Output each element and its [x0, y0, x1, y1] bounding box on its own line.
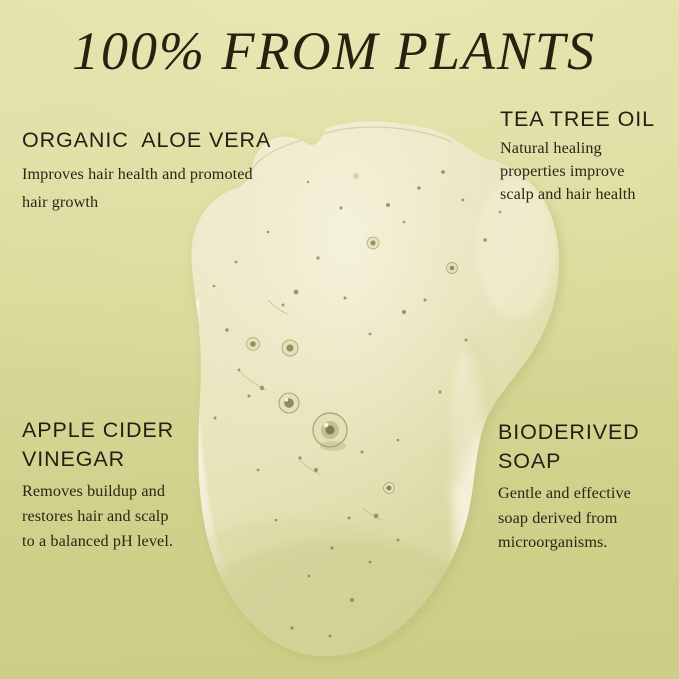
- ingredient-block-apple-cider-vinegar: APPLE CIDER VINEGAR Removes buildup and …: [22, 416, 252, 555]
- ingredient-block-bioderived-soap: BIODERIVED SOAP Gentle and effective soa…: [498, 418, 679, 555]
- poster-canvas: 100% FROM PLANTS ORGANIC ALOE VERA Impro…: [0, 0, 679, 679]
- ingredient-block-tea-tree-oil: TEA TREE OIL Natural healing properties …: [500, 105, 679, 206]
- page-title: 100% FROM PLANTS: [72, 20, 596, 82]
- ingredient-heading-bioderived-soap: BIODERIVED SOAP: [498, 418, 679, 475]
- ingredient-block-organic-aloe-vera: ORGANIC ALOE VERA Improves hair health a…: [22, 126, 322, 217]
- ingredient-body-organic-aloe-vera: Improves hair health and promoted hair g…: [22, 160, 322, 218]
- gel-blob-shadow: [0, 0, 563, 660]
- ingredient-body-bioderived-soap: Gentle and effective soap derived from m…: [498, 481, 679, 555]
- ingredient-heading-tea-tree-oil: TEA TREE OIL: [500, 105, 679, 134]
- gel-blob-graphic: [0, 0, 679, 679]
- ingredient-heading-organic-aloe-vera: ORGANIC ALOE VERA: [22, 126, 322, 155]
- ingredient-body-apple-cider-vinegar: Removes buildup and restores hair and sc…: [22, 479, 252, 554]
- gel-bubbles: [213, 170, 502, 637]
- ingredient-heading-apple-cider-vinegar: APPLE CIDER VINEGAR: [22, 416, 252, 473]
- ingredient-body-tea-tree-oil: Natural healing properties improve scalp…: [500, 137, 679, 206]
